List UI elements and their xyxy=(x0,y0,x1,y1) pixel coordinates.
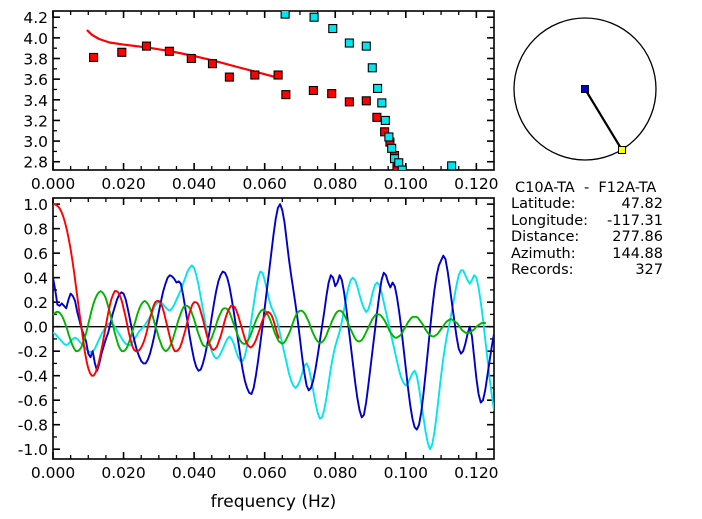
info-value-distance: 277.86 xyxy=(579,229,701,245)
x-tick-label: 0.100 xyxy=(384,464,428,482)
x-tick-label: 0.040 xyxy=(172,175,216,193)
data-point-marker xyxy=(373,113,381,121)
data-point-marker xyxy=(345,39,353,47)
data-point-marker xyxy=(385,133,393,141)
y-tick-label: 3.4 xyxy=(23,92,48,110)
data-point-marker xyxy=(398,166,406,174)
data-point-marker xyxy=(362,97,370,105)
station1-marker xyxy=(582,86,589,93)
x-tick-label: 0.060 xyxy=(242,175,286,193)
data-point-marker xyxy=(208,60,216,68)
station-path-line xyxy=(585,89,622,150)
data-point-marker xyxy=(118,48,126,56)
station-pair-info-panel: C10A-TA - F12A-TA Latitude: 47.82 Longit… xyxy=(511,180,701,278)
info-row-longitude: Longitude: -117.31 xyxy=(511,213,701,229)
spectra-plot-content: 0.0000.0200.0400.0600.0800.1000.120-1.0-… xyxy=(18,196,499,512)
y-tick-label: 0.8 xyxy=(23,221,48,239)
cross-correlation-plot-svg: 0.0000.0200.0400.0600.0800.1000.120-1.0-… xyxy=(0,196,510,519)
info-row-latitude: Latitude: 47.82 xyxy=(511,196,701,212)
y-tick-label: 2.8 xyxy=(23,154,48,172)
x-tick-label: 0.100 xyxy=(384,175,428,193)
data-point-marker xyxy=(309,87,317,95)
y-tick-label: 0.2 xyxy=(23,294,48,312)
info-label-latitude: Latitude: xyxy=(511,196,576,212)
data-point-marker xyxy=(165,47,173,55)
data-point-marker xyxy=(329,25,337,33)
y-tick-label: 1.0 xyxy=(23,196,48,214)
x-tick-label: 0.080 xyxy=(313,175,357,193)
data-point-marker xyxy=(251,71,259,79)
dispersion-data-group xyxy=(88,10,456,174)
info-row-azimuth: Azimuth: 144.88 xyxy=(511,246,701,262)
data-point-marker xyxy=(362,42,370,50)
data-point-marker xyxy=(381,116,389,124)
info-value-longitude: -117.31 xyxy=(588,213,701,229)
data-point-marker xyxy=(374,84,382,92)
data-point-marker xyxy=(142,42,150,50)
y-tick-label: 0.0 xyxy=(23,319,48,337)
y-tick-label: 3.6 xyxy=(23,71,48,89)
reference-dispersion-curve xyxy=(88,31,276,77)
data-point-marker xyxy=(90,53,98,61)
great-circle-map-panel xyxy=(505,0,702,175)
data-point-marker xyxy=(282,91,290,99)
spectrum-trace xyxy=(53,204,494,429)
y-tick-label: 0.6 xyxy=(23,245,48,263)
data-point-marker xyxy=(274,71,282,79)
station-pair-title: C10A-TA - F12A-TA xyxy=(515,180,701,196)
great-circle-map-content xyxy=(514,18,656,160)
y-tick-label: -0.8 xyxy=(18,417,48,435)
x-tick-label: 0.020 xyxy=(101,464,145,482)
data-point-marker xyxy=(310,13,318,21)
y-tick-label: -0.4 xyxy=(18,368,48,386)
x-axis-title: frequency (Hz) xyxy=(211,492,337,512)
data-point-marker xyxy=(281,10,289,18)
data-point-marker xyxy=(187,54,195,62)
x-tick-label: 0.040 xyxy=(172,464,216,482)
y-tick-label: -0.2 xyxy=(18,343,48,361)
info-label-longitude: Longitude: xyxy=(511,213,588,229)
y-tick-label: -0.6 xyxy=(18,392,48,410)
data-point-marker xyxy=(388,144,396,152)
info-value-records: 327 xyxy=(574,262,701,278)
cross-correlation-plot-panel: 0.0000.0200.0400.0600.0800.1000.120-1.0-… xyxy=(0,196,510,519)
dispersion-plot-svg: 0.0000.0200.0400.0600.0800.1000.1202.83.… xyxy=(0,0,510,196)
y-tick-label: 3.8 xyxy=(23,50,48,68)
info-value-azimuth: 144.88 xyxy=(576,246,701,262)
y-tick-label: 0.4 xyxy=(23,270,48,288)
spectra-data-group xyxy=(53,204,494,449)
y-tick-label: 4.0 xyxy=(23,30,48,48)
x-tick-label: 0.020 xyxy=(101,175,145,193)
y-tick-label: -1.0 xyxy=(18,441,48,459)
info-label-records: Records: xyxy=(511,262,574,278)
info-value-latitude: 47.82 xyxy=(576,196,701,212)
dispersion-plot-panel: 0.0000.0200.0400.0600.0800.1000.1202.83.… xyxy=(0,0,510,196)
data-point-marker xyxy=(368,64,376,72)
great-circle-map-svg xyxy=(505,0,702,175)
x-tick-label: 0.120 xyxy=(454,464,498,482)
data-point-marker xyxy=(345,98,353,106)
plot-frame xyxy=(53,11,494,170)
data-point-marker xyxy=(225,73,233,81)
x-tick-label: 0.000 xyxy=(31,175,75,193)
data-point-marker xyxy=(448,162,456,170)
info-label-distance: Distance: xyxy=(511,229,579,245)
x-tick-label: 0.080 xyxy=(313,464,357,482)
info-row-records: Records: 327 xyxy=(511,262,701,278)
station2-marker xyxy=(619,147,626,154)
y-tick-label: 3.2 xyxy=(23,112,48,130)
info-label-azimuth: Azimuth: xyxy=(511,246,576,262)
x-tick-label: 0.000 xyxy=(31,464,75,482)
x-tick-label: 0.060 xyxy=(242,464,286,482)
y-tick-label: 4.2 xyxy=(23,9,48,27)
data-point-marker xyxy=(378,99,386,107)
y-tick-label: 3.0 xyxy=(23,133,48,151)
info-row-distance: Distance: 277.86 xyxy=(511,229,701,245)
dispersion-plot-content: 0.0000.0200.0400.0600.0800.1000.1202.83.… xyxy=(23,9,498,193)
data-point-marker xyxy=(328,90,336,98)
x-tick-label: 0.120 xyxy=(454,175,498,193)
